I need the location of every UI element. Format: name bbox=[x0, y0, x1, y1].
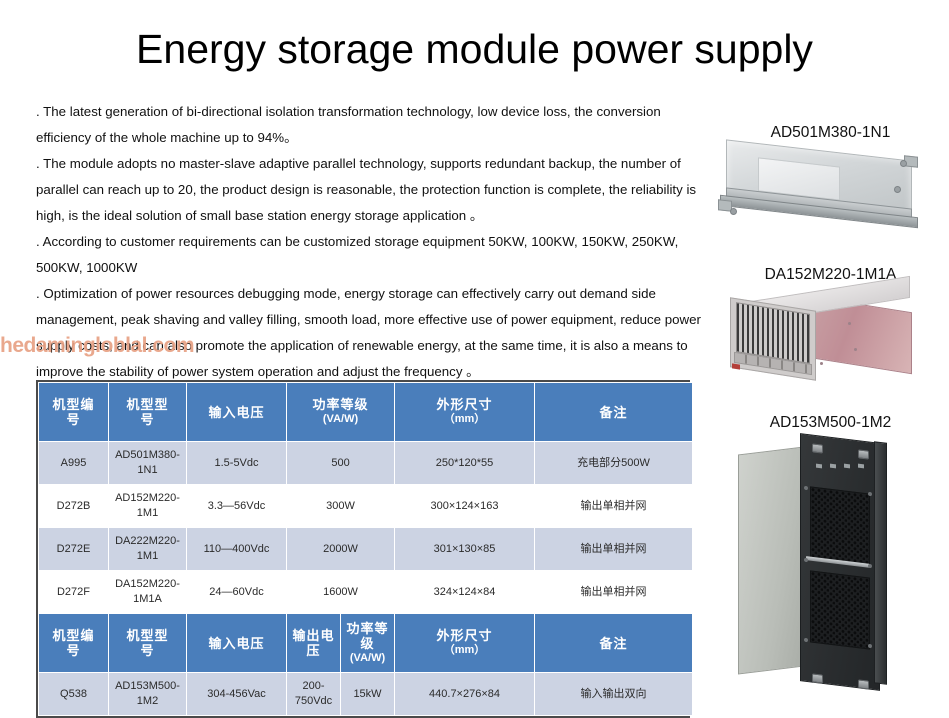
screw-icon bbox=[900, 160, 907, 167]
header-cell-power-b: 功率等 级 (VA/W) bbox=[341, 614, 395, 673]
fan-grille-icon-top bbox=[810, 486, 870, 565]
product-item-3: AD153M500-1M2 bbox=[712, 414, 949, 688]
description-paragraph-1: . The latest generation of bi-directiona… bbox=[36, 99, 708, 151]
cell-code: A995 bbox=[39, 442, 109, 485]
product-item-2: DA152M220-1M1A bbox=[712, 266, 949, 378]
screw-icon bbox=[848, 322, 851, 325]
cell-code: D272B bbox=[39, 485, 109, 528]
header-line-2: 号 bbox=[66, 643, 80, 658]
header-line-1: 机型编 bbox=[52, 397, 94, 412]
header-line-1: 外形尺寸 bbox=[437, 397, 493, 412]
header-sub: (VA/W) bbox=[343, 651, 392, 666]
header-sub: （mm） bbox=[397, 412, 532, 427]
header-line-1: 备注 bbox=[600, 636, 628, 651]
header-cell-code-b: 机型编 号 bbox=[39, 614, 109, 673]
description-block: . The latest generation of bi-directiona… bbox=[36, 99, 708, 385]
red-indicator-tab bbox=[732, 363, 740, 369]
header-cell-dimensions-a: 外形尺寸 （mm） bbox=[395, 383, 535, 442]
thumbscrew-icon bbox=[858, 449, 869, 459]
cell-dimensions: 301×130×85 bbox=[395, 528, 535, 571]
screw-icon bbox=[804, 638, 808, 642]
chassis-side-edge bbox=[874, 441, 887, 685]
header-line-1: 外形尺寸 bbox=[437, 628, 493, 643]
screw-icon bbox=[868, 564, 872, 568]
table-header-row-b: 机型编 号 机型型 号 输入电压 输出电 压 功率等 级 (VA/W) 外形尺寸… bbox=[39, 614, 693, 673]
cell-remark: 输出单相并网 bbox=[535, 528, 693, 571]
header-line-2: 级 bbox=[361, 636, 375, 651]
header-line-2: 号 bbox=[140, 412, 154, 427]
header-line-1: 功率等 bbox=[347, 621, 389, 636]
thumbscrew-icon bbox=[812, 673, 823, 683]
screw-icon bbox=[868, 644, 872, 648]
product-photo-ad153m500-1m2 bbox=[738, 438, 924, 688]
table-row: D272B AD152M220-1M1 3.3—56Vdc 300W 300×1… bbox=[39, 485, 693, 528]
description-paragraph-3: . According to customer requirements can… bbox=[36, 229, 708, 281]
cell-dimensions: 250*120*55 bbox=[395, 442, 535, 485]
header-line-2: 压 bbox=[306, 643, 320, 658]
table-row: D272F DA152M220-1M1A 24—60Vdc 1600W 324×… bbox=[39, 571, 693, 614]
cell-output-voltage: 200-750Vdc bbox=[287, 673, 341, 716]
product-photo-ad501m380-1n1 bbox=[718, 148, 918, 232]
header-line-2: 号 bbox=[140, 643, 154, 658]
product-label-1: AD501M380-1N1 bbox=[712, 124, 949, 142]
screw-icon bbox=[854, 348, 857, 351]
product-gallery: AD501M380-1N1 DA152M220-1M1A bbox=[712, 0, 949, 708]
description-paragraph-2: . The module adopts no master-slave adap… bbox=[36, 151, 708, 229]
header-line-1: 机型编 bbox=[52, 628, 94, 643]
thumbscrew-icon bbox=[812, 443, 823, 453]
cell-input-voltage: 24—60Vdc bbox=[187, 571, 287, 614]
header-cell-model-b: 机型型 号 bbox=[109, 614, 187, 673]
cell-code: D272F bbox=[39, 571, 109, 614]
cell-power: 1600W bbox=[287, 571, 395, 614]
screw-icon bbox=[730, 208, 737, 215]
product-label-2: DA152M220-1M1A bbox=[712, 266, 949, 284]
header-cell-input-voltage-a: 输入电压 bbox=[187, 383, 287, 442]
cell-power: 2000W bbox=[287, 528, 395, 571]
header-cell-remark-a: 备注 bbox=[535, 383, 693, 442]
product-item-1: AD501M380-1N1 bbox=[712, 124, 949, 232]
cell-remark: 输出单相并网 bbox=[535, 485, 693, 528]
cell-remark: 输入输出双向 bbox=[535, 673, 693, 716]
cell-code: Q538 bbox=[39, 673, 109, 716]
header-line-1: 输入电压 bbox=[208, 405, 264, 420]
product-photo-da152m220-1m1a bbox=[716, 290, 926, 378]
product-label-3: AD153M500-1M2 bbox=[712, 414, 949, 432]
header-line-1: 机型型 bbox=[126, 628, 168, 643]
cell-power: 500 bbox=[287, 442, 395, 485]
table-header-row-a: 机型编 号 机型型 号 输入电压 功率等级 (VA/W) 外形尺寸 （mm） 备… bbox=[39, 383, 693, 442]
description-paragraph-4: . Optimization of power resources debugg… bbox=[36, 281, 708, 385]
header-line-1: 机型型 bbox=[126, 397, 168, 412]
header-line-1: 输出电 bbox=[292, 628, 334, 643]
cell-code: D272E bbox=[39, 528, 109, 571]
spec-table: 机型编 号 机型型 号 输入电压 功率等级 (VA/W) 外形尺寸 （mm） 备… bbox=[36, 380, 690, 718]
cell-dimensions: 324×124×84 bbox=[395, 571, 535, 614]
header-line-1: 输入电压 bbox=[208, 636, 264, 651]
cell-remark: 输出单相并网 bbox=[535, 571, 693, 614]
header-cell-power-a: 功率等级 (VA/W) bbox=[287, 383, 395, 442]
screw-icon bbox=[894, 186, 901, 193]
table-row: Q538 AD153M500-1M2 304-456Vac 200-750Vdc… bbox=[39, 673, 693, 716]
cell-model: AD501M380-1N1 bbox=[109, 442, 187, 485]
header-sub: （mm） bbox=[397, 643, 532, 658]
cell-input-voltage: 304-456Vac bbox=[187, 673, 287, 716]
screw-icon bbox=[804, 558, 808, 562]
fan-grille-icon-bottom bbox=[810, 570, 870, 649]
thumbscrew-icon bbox=[858, 679, 869, 689]
cell-model: DA152M220-1M1A bbox=[109, 571, 187, 614]
status-led-icon bbox=[830, 464, 836, 469]
cell-model: DA222M220-1M1 bbox=[109, 528, 187, 571]
header-line-2: 号 bbox=[66, 412, 80, 427]
header-cell-input-voltage-b: 输入电压 bbox=[187, 614, 287, 673]
status-led-icon bbox=[844, 464, 850, 469]
header-cell-output-voltage-b: 输出电 压 bbox=[287, 614, 341, 673]
cell-input-voltage: 3.3—56Vdc bbox=[187, 485, 287, 528]
header-sub: (VA/W) bbox=[289, 412, 392, 427]
header-line-1: 功率等级 bbox=[313, 397, 369, 412]
header-cell-remark-b: 备注 bbox=[535, 614, 693, 673]
header-cell-code-a: 机型编 号 bbox=[39, 383, 109, 442]
table-row: D272E DA222M220-1M1 110—400Vdc 2000W 301… bbox=[39, 528, 693, 571]
cell-dimensions: 440.7×276×84 bbox=[395, 673, 535, 716]
cell-model: AD153M500-1M2 bbox=[109, 673, 187, 716]
cell-power: 300W bbox=[287, 485, 395, 528]
cell-remark: 充电部分500W bbox=[535, 442, 693, 485]
cell-dimensions: 300×124×163 bbox=[395, 485, 535, 528]
cell-input-voltage: 1.5-5Vdc bbox=[187, 442, 287, 485]
header-line-1: 备注 bbox=[600, 405, 628, 420]
header-cell-model-a: 机型型 号 bbox=[109, 383, 187, 442]
table-row: A995 AD501M380-1N1 1.5-5Vdc 500 250*120*… bbox=[39, 442, 693, 485]
cell-input-voltage: 110—400Vdc bbox=[187, 528, 287, 571]
status-led-icon bbox=[858, 464, 864, 469]
screw-icon bbox=[820, 362, 823, 365]
status-led-icon bbox=[816, 464, 822, 469]
screw-icon bbox=[804, 486, 808, 490]
cell-power: 15kW bbox=[341, 673, 395, 716]
screw-icon bbox=[868, 492, 872, 496]
cell-model: AD152M220-1M1 bbox=[109, 485, 187, 528]
header-cell-dimensions-b: 外形尺寸 （mm） bbox=[395, 614, 535, 673]
